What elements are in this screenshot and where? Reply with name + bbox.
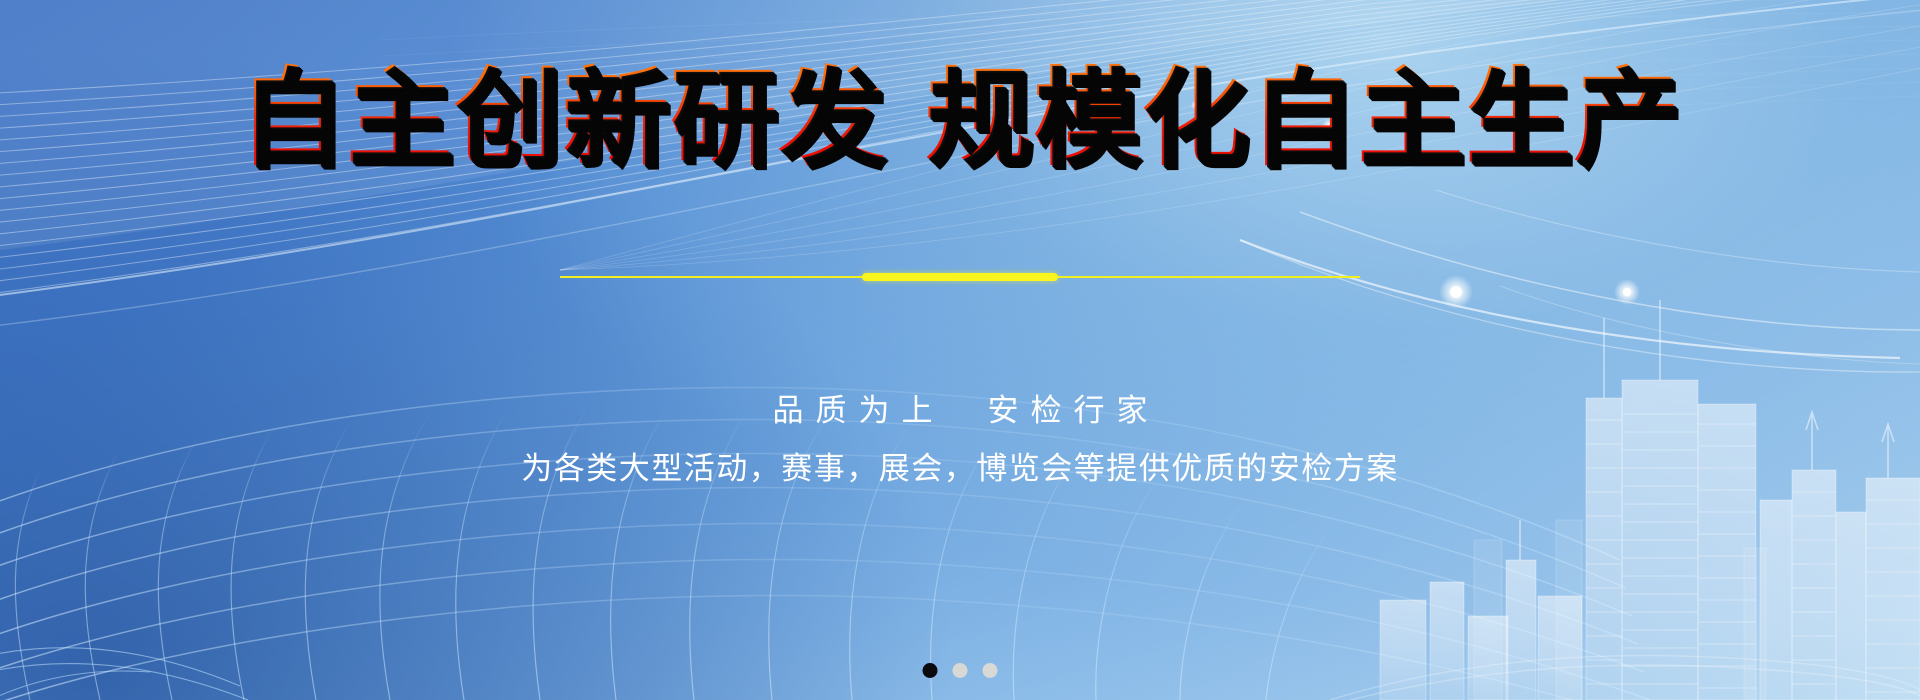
carousel-dots[interactable] [923,663,998,678]
title-container: 自主创新研发 规模化自主生产 [0,62,1920,176]
hero-banner: 自主创新研发 规模化自主生产 品质为上 安检行家 为各类大型活动，赛事，展会，博… [0,0,1920,700]
subtitle-container: 品质为上 安检行家 为各类大型活动，赛事，展会，博览会等提供优质的安检方案 [0,392,1920,489]
carousel-dot-3[interactable] [983,663,998,678]
subtitle-primary: 品质为上 安检行家 [0,392,1920,431]
carousel-dot-2[interactable] [953,663,968,678]
carousel-dot-1[interactable] [923,663,938,678]
page-title-text: 自主创新研发 规模化自主生产 [239,57,1682,180]
page-title: 自主创新研发 规模化自主生产 [239,62,1682,176]
yellow-divider-line [560,270,1360,284]
subtitle-secondary: 为各类大型活动，赛事，展会，博览会等提供优质的安检方案 [0,450,1920,489]
divider-thick-bar [862,273,1058,281]
city-skyline-group [1330,300,1920,700]
